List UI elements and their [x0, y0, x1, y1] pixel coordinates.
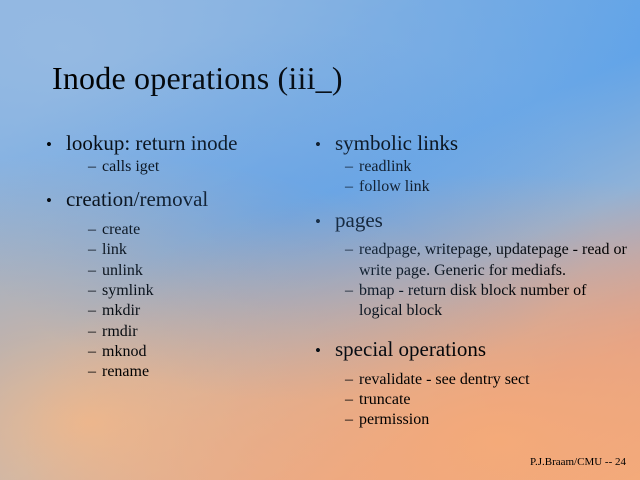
list-item: • pages — [315, 207, 627, 234]
list-item-label: link — [102, 240, 308, 260]
dash-icon: – — [88, 157, 102, 177]
slide-footer: P.J.Braam/CMU -- 24 — [530, 456, 626, 468]
list-item: – link — [88, 240, 308, 260]
list-item-label: create — [102, 220, 308, 240]
list-item: – symlink — [88, 281, 308, 301]
list-item-label: symlink — [102, 281, 308, 301]
dash-icon: – — [88, 342, 102, 362]
list-item-label: creation/removal — [66, 186, 308, 213]
dash-icon: – — [88, 301, 102, 321]
list-item-label: readpage, writepage, updatepage - read o… — [359, 240, 627, 281]
dash-icon: – — [88, 322, 102, 342]
dash-icon: – — [88, 281, 102, 301]
dash-icon: – — [345, 240, 359, 260]
dash-icon: – — [345, 177, 359, 197]
list-item-label: rmdir — [102, 322, 308, 342]
list-item: • special operations — [315, 336, 627, 363]
dash-icon: – — [88, 240, 102, 260]
content-column-right: • symbolic links – readlink – follow lin… — [315, 128, 627, 430]
list-item-label: permission — [359, 410, 627, 430]
list-item: – follow link — [345, 177, 627, 197]
list-item: – create — [88, 220, 308, 240]
slide-canvas: Inode operations (iii_) • lookup: return… — [0, 0, 640, 480]
list-item: • symbolic links — [315, 130, 627, 157]
bullet-icon: • — [46, 136, 66, 153]
list-item: – readpage, writepage, updatepage - read… — [345, 240, 627, 281]
dash-icon: – — [88, 362, 102, 382]
list-item: • creation/removal — [46, 186, 308, 213]
list-item: – mknod — [88, 342, 308, 362]
list-item: – rename — [88, 362, 308, 382]
list-item-label: mkdir — [102, 301, 308, 321]
list-item-label: special operations — [335, 336, 627, 363]
list-item: – mkdir — [88, 301, 308, 321]
list-item-label: unlink — [102, 261, 308, 281]
list-item-label: lookup: return inode — [66, 130, 308, 157]
list-item: – unlink — [88, 261, 308, 281]
dash-icon: – — [345, 370, 359, 390]
list-item-label: rename — [102, 362, 308, 382]
dash-icon: – — [345, 390, 359, 410]
list-item: – truncate — [345, 390, 627, 410]
list-item-label: bmap - return disk block number of logic… — [359, 281, 627, 322]
list-item: – readlink — [345, 157, 627, 177]
list-item-label: pages — [335, 207, 627, 234]
dash-icon: – — [88, 220, 102, 240]
list-item-label: truncate — [359, 390, 627, 410]
bullet-icon: • — [315, 136, 335, 153]
bullet-icon: • — [315, 342, 335, 359]
dash-icon: – — [345, 410, 359, 430]
list-item: • lookup: return inode — [46, 130, 308, 157]
bullet-icon: • — [46, 192, 66, 209]
list-item: – permission — [345, 410, 627, 430]
list-item: – calls iget — [88, 157, 308, 177]
list-item-label: mknod — [102, 342, 308, 362]
dash-icon: – — [345, 157, 359, 177]
list-item: – bmap - return disk block number of log… — [345, 281, 627, 322]
list-item: – rmdir — [88, 322, 308, 342]
page-title: Inode operations (iii_) — [52, 60, 343, 97]
list-item-label: revalidate - see dentry sect — [359, 370, 627, 390]
list-item: – revalidate - see dentry sect — [345, 370, 627, 390]
dash-icon: – — [345, 281, 359, 301]
content-column-left: • lookup: return inode – calls iget • cr… — [46, 128, 308, 383]
bullet-icon: • — [315, 213, 335, 230]
list-item-label: symbolic links — [335, 130, 627, 157]
list-item-label: readlink — [359, 157, 627, 177]
list-item-label: calls iget — [102, 157, 308, 177]
list-item-label: follow link — [359, 177, 627, 197]
dash-icon: – — [88, 261, 102, 281]
